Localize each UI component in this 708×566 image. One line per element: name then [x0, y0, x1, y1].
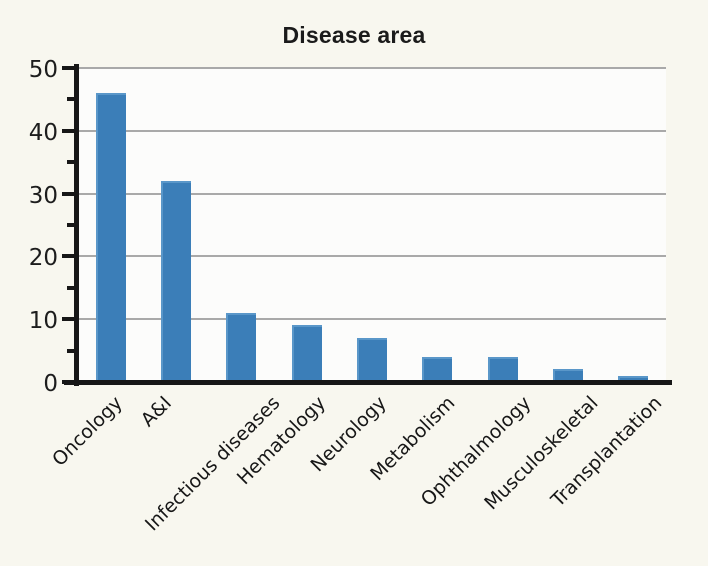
- y-tick-minor-25: [67, 223, 79, 227]
- x-tick-label: A&I: [137, 392, 176, 431]
- y-tick-label-text: 40: [29, 120, 58, 146]
- y-tick-major-0: [62, 380, 79, 384]
- y-tick-minor-15: [67, 286, 79, 290]
- y-tick-major-10: [62, 317, 79, 321]
- y-tick-label-text: 10: [29, 308, 58, 334]
- chart-title: Disease area: [0, 22, 708, 49]
- y-tick-major-50: [62, 66, 79, 70]
- y-tick-minor-35: [67, 160, 79, 164]
- y-tick-label-text: 50: [29, 57, 58, 83]
- bar: [161, 181, 191, 382]
- x-tick-label: Musculoskeletal: [480, 392, 602, 514]
- x-axis-line: [64, 380, 672, 385]
- y-tick-label-text: 30: [29, 183, 58, 209]
- bar: [488, 357, 518, 382]
- y-tick-major-40: [62, 129, 79, 133]
- plot-area: [78, 68, 666, 382]
- bar: [422, 357, 452, 382]
- bar: [357, 338, 387, 382]
- bar: [96, 93, 126, 382]
- y-tick-major-30: [62, 192, 79, 196]
- y-tick-minor-5: [67, 349, 79, 353]
- gridline-50: [78, 67, 666, 69]
- y-tick-major-20: [62, 254, 79, 258]
- x-tick-label: Oncology: [48, 392, 127, 471]
- bar-chart-figure: Disease area 01020304050 OncologyA&IInfe…: [0, 0, 708, 566]
- y-tick-minor-45: [67, 97, 79, 101]
- bar: [226, 313, 256, 382]
- x-tick-label: Transplantation: [547, 392, 666, 511]
- bar: [292, 325, 322, 382]
- y-tick-label-text: 20: [29, 245, 58, 271]
- gridline-40: [78, 130, 666, 132]
- y-tick-label-text: 0: [43, 371, 58, 397]
